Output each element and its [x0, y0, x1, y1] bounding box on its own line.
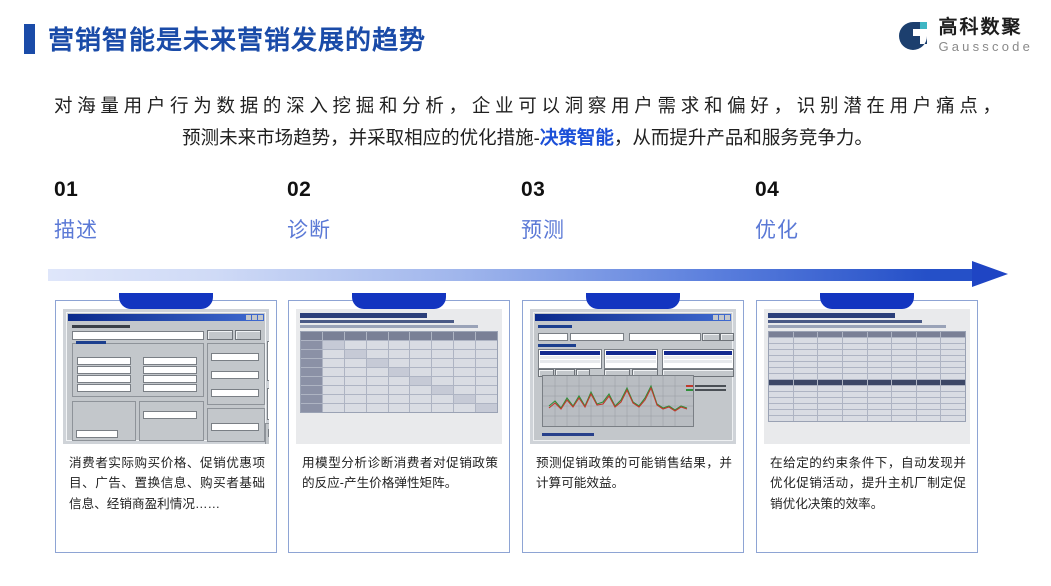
table-cell [769, 416, 793, 421]
table-cell [794, 416, 818, 421]
table-cell [367, 404, 388, 412]
table-cell [367, 386, 388, 394]
table-cell [323, 350, 344, 358]
table-cell [301, 386, 322, 394]
table-cell [454, 341, 475, 349]
table-cell [843, 338, 867, 343]
table-cell [432, 332, 453, 340]
table-cell [794, 356, 818, 361]
table-cell [868, 332, 892, 337]
table-cell [345, 332, 366, 340]
table-cell [843, 398, 867, 403]
gausscode-logo-icon [896, 19, 930, 53]
table-cell [818, 350, 842, 355]
table-cell [917, 416, 941, 421]
table-cell [818, 356, 842, 361]
step-number: 01 [54, 178, 274, 202]
table-cell [941, 410, 965, 415]
card-tab [352, 293, 446, 309]
table-cell [476, 332, 497, 340]
table-cell [843, 404, 867, 409]
table-cell [454, 332, 475, 340]
table-cell [432, 386, 453, 394]
table-cell [794, 392, 818, 397]
table-cell [301, 404, 322, 412]
table-cell [410, 350, 431, 358]
table-cell [794, 338, 818, 343]
table-cell [868, 356, 892, 361]
step-01: 01 描述 [54, 178, 274, 244]
table-cell [868, 350, 892, 355]
table-cell [769, 398, 793, 403]
simulation-forecast-chart-screenshot [530, 309, 736, 444]
progress-arrow [48, 262, 1008, 288]
table-cell [454, 404, 475, 412]
table-cell [892, 386, 916, 391]
table-cell [892, 332, 916, 337]
table-cell [794, 362, 818, 367]
table-cell [892, 374, 916, 379]
table-cell [917, 392, 941, 397]
table-cell [941, 374, 965, 379]
table-cell [476, 404, 497, 412]
table-cell [818, 416, 842, 421]
table-cell [941, 344, 965, 349]
step-number: 03 [521, 178, 741, 202]
table-cell [476, 341, 497, 349]
table-cell [389, 341, 410, 349]
step-label: 诊断 [287, 214, 507, 244]
table-cell [410, 404, 431, 412]
paragraph-highlight: 决策智能 [540, 127, 614, 148]
table-cell [769, 362, 793, 367]
table-cell [301, 350, 322, 358]
step-number: 02 [287, 178, 507, 202]
table-cell [476, 350, 497, 358]
table-cell [476, 377, 497, 385]
table-cell [818, 368, 842, 373]
table-cell [367, 350, 388, 358]
table-cell [769, 368, 793, 373]
table-cell [769, 386, 793, 391]
table-cell [410, 368, 431, 376]
table-cell [301, 332, 322, 340]
table-cell [301, 341, 322, 349]
step-02: 02 诊断 [287, 178, 507, 244]
table-cell [868, 398, 892, 403]
table-cell [941, 386, 965, 391]
table-cell [432, 359, 453, 367]
paragraph-line-2-before: 预测未来市场趋势，并采取相应的优化措施- [182, 127, 540, 148]
card-02-diagnose[interactable]: 用模型分析诊断消费者对促销政策的反应-产生价格弹性矩阵。 [288, 300, 510, 553]
table-cell [432, 395, 453, 403]
table-cell [892, 392, 916, 397]
table-cell [818, 392, 842, 397]
table-cell [454, 395, 475, 403]
table-cell [941, 338, 965, 343]
table-cell [917, 350, 941, 355]
table-cell [892, 380, 916, 385]
table-cell [892, 362, 916, 367]
table-cell [892, 398, 916, 403]
table-cell [843, 410, 867, 415]
paragraph-line-2-after: ，从而提升产品和服务竞争力。 [614, 127, 873, 148]
table-cell [892, 416, 916, 421]
table-cell [389, 404, 410, 412]
table-cell [941, 350, 965, 355]
table-cell [769, 392, 793, 397]
card-04-optimize[interactable]: 在给定的约束条件下，自动发现并优化促销活动，提升主机厂制定促销优化决策的效率。 [756, 300, 978, 553]
table-cell [454, 368, 475, 376]
brand-logo: 高科数聚 Gausscode [896, 18, 1033, 53]
table-cell [917, 338, 941, 343]
progress-arrow-bar [48, 269, 973, 281]
table-cell [794, 410, 818, 415]
program-setup-dialog-screenshot [63, 309, 269, 444]
table-cell [301, 377, 322, 385]
table-cell [892, 350, 916, 355]
card-01-describe[interactable]: 消费者实际购买价格、促销优惠项目、广告、置换信息、购买者基础信息、经销商盈利情况… [55, 300, 277, 553]
table-cell [843, 356, 867, 361]
table-cell [941, 404, 965, 409]
table-cell [769, 356, 793, 361]
table-cell [868, 344, 892, 349]
table-cell [410, 341, 431, 349]
table-cell [892, 410, 916, 415]
card-caption: 在给定的约束条件下，自动发现并优化促销活动，提升主机厂制定促销优化决策的效率。 [770, 453, 966, 514]
title-accent-bar [24, 24, 35, 54]
table-cell [323, 386, 344, 394]
legend-item-predicted [686, 385, 726, 387]
table-cell [301, 359, 322, 367]
table-cell [818, 398, 842, 403]
step-04: 04 优化 [755, 178, 975, 244]
table-cell [818, 344, 842, 349]
table-cell [410, 332, 431, 340]
table-cell [917, 380, 941, 385]
table-cell [794, 350, 818, 355]
table-cell [868, 362, 892, 367]
table-cell [367, 332, 388, 340]
table-cell [410, 395, 431, 403]
table-cell [818, 404, 842, 409]
title-text: 营销智能是未来营销发展的趋势 [48, 20, 426, 57]
table-cell [843, 332, 867, 337]
table-cell [868, 338, 892, 343]
card-tab [586, 293, 680, 309]
progress-arrow-head-icon [972, 261, 1008, 287]
step-labels: 01 描述 02 诊断 03 预测 04 优化 [0, 178, 1051, 248]
rebate-elasticity-matrix-screenshot [296, 309, 502, 444]
forecast-line-chart [542, 375, 694, 427]
intro-paragraph: 对海量用户行为数据的深入挖掘和分析，企业可以洞察用户需求和偏好，识别潜在用户痛点… [50, 90, 1005, 155]
table-cell [794, 404, 818, 409]
paragraph-line-2: 预测未来市场趋势，并采取相应的优化措施-决策智能，从而提升产品和服务竞争力。 [50, 122, 1005, 154]
page-title: 营销智能是未来营销发展的趋势 [24, 20, 426, 57]
table-cell [345, 386, 366, 394]
table-cell [389, 359, 410, 367]
step-label: 优化 [755, 214, 975, 244]
table-cell [769, 374, 793, 379]
table-cell [868, 416, 892, 421]
table-cell [868, 380, 892, 385]
table-cell [769, 338, 793, 343]
table-cell [769, 344, 793, 349]
table-cell [345, 404, 366, 412]
table-cell [917, 404, 941, 409]
table-cell [367, 377, 388, 385]
table-cell [476, 359, 497, 367]
legend-item-actual [686, 389, 726, 391]
table-cell [843, 386, 867, 391]
table-cell [410, 386, 431, 394]
table-cell [794, 344, 818, 349]
table-cell [769, 332, 793, 337]
card-caption: 用模型分析诊断消费者对促销政策的反应-产生价格弹性矩阵。 [302, 453, 498, 494]
table-cell [868, 392, 892, 397]
table-cell [794, 368, 818, 373]
table-cell [389, 350, 410, 358]
table-cell [301, 395, 322, 403]
table-cell [941, 416, 965, 421]
table-cell [818, 380, 842, 385]
table-cell [476, 368, 497, 376]
table-cell [892, 356, 916, 361]
table-cell [389, 368, 410, 376]
table-cell [323, 404, 344, 412]
table-cell [454, 359, 475, 367]
table-cell [389, 395, 410, 403]
table-cell [843, 368, 867, 373]
table-cell [917, 344, 941, 349]
table-cell [794, 386, 818, 391]
table-cell [432, 377, 453, 385]
table-cell [476, 395, 497, 403]
table-cell [367, 341, 388, 349]
table-cell [941, 332, 965, 337]
table-cell [818, 362, 842, 367]
logo-en-text: Gausscode [938, 40, 1033, 53]
step-label: 描述 [54, 214, 274, 244]
table-cell [323, 368, 344, 376]
table-cell [454, 386, 475, 394]
table-cell [367, 395, 388, 403]
table-cell [769, 380, 793, 385]
table-cell [367, 359, 388, 367]
table-cell [917, 410, 941, 415]
table-cell [917, 356, 941, 361]
card-caption: 消费者实际购买价格、促销优惠项目、广告、置换信息、购买者基础信息、经销商盈利情况… [69, 453, 265, 514]
table-cell [941, 398, 965, 403]
table-cell [432, 341, 453, 349]
table-cell [917, 368, 941, 373]
table-cell [818, 386, 842, 391]
step-number: 04 [755, 178, 975, 202]
table-cell [794, 332, 818, 337]
table-cell [917, 362, 941, 367]
table-cell [941, 356, 965, 361]
table-cell [917, 398, 941, 403]
table-cell [794, 398, 818, 403]
table-cell [843, 380, 867, 385]
table-cell [868, 368, 892, 373]
card-tab [820, 293, 914, 309]
table-cell [843, 416, 867, 421]
table-cell [917, 374, 941, 379]
card-03-predict[interactable]: 预测促销政策的可能销售结果，并计算可能效益。 [522, 300, 744, 553]
table-cell [794, 374, 818, 379]
table-cell [843, 344, 867, 349]
table-cell [818, 332, 842, 337]
paragraph-line-1: 对海量用户行为数据的深入挖掘和分析，企业可以洞察用户需求和偏好，识别潜在用户痛点… [50, 90, 1005, 122]
table-cell [476, 386, 497, 394]
table-cell [410, 377, 431, 385]
table-cell [432, 368, 453, 376]
table-cell [323, 395, 344, 403]
table-cell [892, 344, 916, 349]
table-cell [367, 368, 388, 376]
optimal-rebate-program-screenshot [764, 309, 970, 444]
table-cell [941, 362, 965, 367]
table-cell [843, 392, 867, 397]
table-cell [868, 386, 892, 391]
table-cell [323, 359, 344, 367]
logo-cn-text: 高科数聚 [938, 18, 1033, 37]
table-cell [345, 377, 366, 385]
step-03: 03 预测 [521, 178, 741, 244]
table-cell [892, 338, 916, 343]
step-label: 预测 [521, 214, 741, 244]
table-cell [892, 404, 916, 409]
table-cell [892, 368, 916, 373]
table-cell [345, 359, 366, 367]
table-cell [941, 368, 965, 373]
table-cell [818, 338, 842, 343]
table-cell [818, 410, 842, 415]
table-cell [432, 350, 453, 358]
table-cell [769, 404, 793, 409]
table-cell [843, 362, 867, 367]
table-cell [843, 374, 867, 379]
table-cell [454, 350, 475, 358]
table-cell [345, 350, 366, 358]
table-cell [323, 377, 344, 385]
table-cell [389, 386, 410, 394]
table-cell [868, 404, 892, 409]
table-cell [345, 341, 366, 349]
table-cell [769, 410, 793, 415]
table-cell [389, 332, 410, 340]
slide-root: 营销智能是未来营销发展的趋势 高科数聚 Gausscode 对海量用户行为数据的… [0, 0, 1051, 586]
table-cell [345, 395, 366, 403]
table-cell [917, 386, 941, 391]
table-cell [301, 368, 322, 376]
table-cell [410, 359, 431, 367]
table-cell [868, 410, 892, 415]
card-tab [119, 293, 213, 309]
table-cell [794, 380, 818, 385]
table-cell [868, 374, 892, 379]
card-caption: 预测促销政策的可能销售结果，并计算可能效益。 [536, 453, 732, 494]
table-cell [389, 377, 410, 385]
table-cell [818, 374, 842, 379]
table-cell [843, 350, 867, 355]
table-cell [769, 350, 793, 355]
table-cell [323, 341, 344, 349]
table-cell [941, 392, 965, 397]
table-cell [941, 380, 965, 385]
card-row: 消费者实际购买价格、促销优惠项目、广告、置换信息、购买者基础信息、经销商盈利情况… [0, 296, 1051, 556]
table-cell [432, 404, 453, 412]
table-cell [917, 332, 941, 337]
table-cell [454, 377, 475, 385]
table-cell [323, 332, 344, 340]
table-cell [345, 368, 366, 376]
